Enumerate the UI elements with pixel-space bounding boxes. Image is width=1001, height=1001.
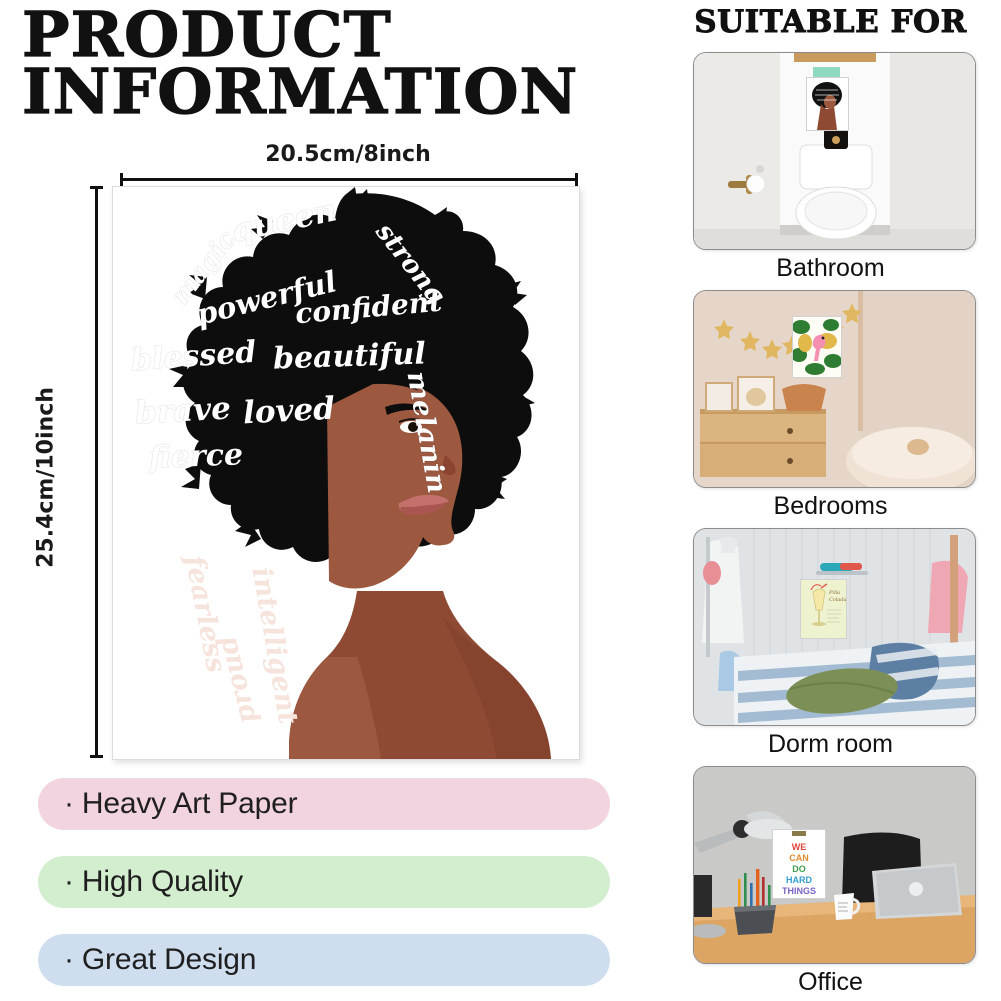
svg-text:WE: WE: [792, 842, 807, 852]
hair-word-beautiful: beautiful: [272, 336, 426, 376]
page-title-line-2: INFORMATION: [22, 63, 634, 120]
scene-caption-office: Office: [660, 968, 1001, 997]
feature-pill-label: · Heavy Art Paper: [38, 787, 297, 821]
we-can-do-hard-things-artwork: WE CAN DO HARD THINGS: [773, 830, 825, 898]
height-dimension-label: 25.4cm/10inch: [34, 358, 59, 598]
page-title: PRODUCT INFORMATION: [22, 6, 622, 120]
mini-poster-afro-woman: [806, 77, 849, 131]
scene-photo-office: WE CAN DO HARD THINGS: [693, 766, 976, 964]
width-dimension-line: [120, 173, 578, 185]
scene-caption-bedrooms: Bedrooms: [660, 492, 1001, 521]
height-dimension-line: [90, 186, 103, 758]
mini-afro-artwork: [807, 78, 848, 130]
scene-photo-bathroom: [693, 52, 976, 250]
feature-pill-label: · High Quality: [38, 865, 243, 899]
svg-text:THINGS: THINGS: [782, 886, 816, 896]
scene-photo-dorm-room: Piña Colada: [693, 528, 976, 726]
scene-photo-bedrooms: [693, 290, 976, 488]
suitable-for-title: SUITABLE FOR: [660, 8, 1001, 37]
dimension-tick-right: [575, 173, 578, 186]
svg-text:HARD: HARD: [786, 875, 812, 885]
dimension-bar: [95, 186, 98, 758]
left-column: PRODUCT INFORMATION 20.5cm/8inch 25.4cm/…: [0, 0, 660, 1001]
feature-pill-high-quality: · High Quality: [38, 856, 610, 908]
product-information-infographic: PRODUCT INFORMATION 20.5cm/8inch 25.4cm/…: [0, 0, 1001, 1001]
feature-pill-great-design: · Great Design: [38, 934, 610, 986]
poster-preview: magic queen strong powerful confident bl…: [112, 186, 580, 760]
dimension-bar: [120, 178, 578, 181]
suitable-for-column: SUITABLE FOR: [660, 0, 1001, 1001]
hair-word-loved: loved: [242, 391, 336, 432]
hair-word-brave: brave: [134, 391, 232, 432]
mini-poster-tape: [813, 67, 840, 77]
svg-text:DO: DO: [792, 864, 806, 874]
scene-caption-dorm-room: Dorm room: [660, 730, 1001, 759]
office-illustration: [694, 767, 975, 963]
scene-caption-bathroom: Bathroom: [660, 254, 1001, 283]
mini-poster-flamingo: [792, 316, 842, 378]
mini-poster-we-can-do-hard-things: WE CAN DO HARD THINGS: [772, 829, 826, 899]
hair-word-fierce: fierce: [148, 437, 243, 475]
svg-text:CAN: CAN: [789, 853, 809, 863]
flamingo-tropical-artwork: [793, 317, 841, 377]
feature-pill-heavy-art-paper: · Heavy Art Paper: [38, 778, 610, 830]
dimension-tick-bottom: [90, 755, 103, 758]
width-dimension-label: 20.5cm/8inch: [118, 142, 578, 167]
svg-text:Colada: Colada: [829, 597, 846, 603]
pina-colada-artwork: Piña Colada: [801, 580, 846, 638]
feature-pill-label: · Great Design: [38, 943, 256, 977]
svg-text:Piña: Piña: [828, 589, 840, 596]
mini-poster-pina-colada: Piña Colada: [800, 579, 847, 639]
